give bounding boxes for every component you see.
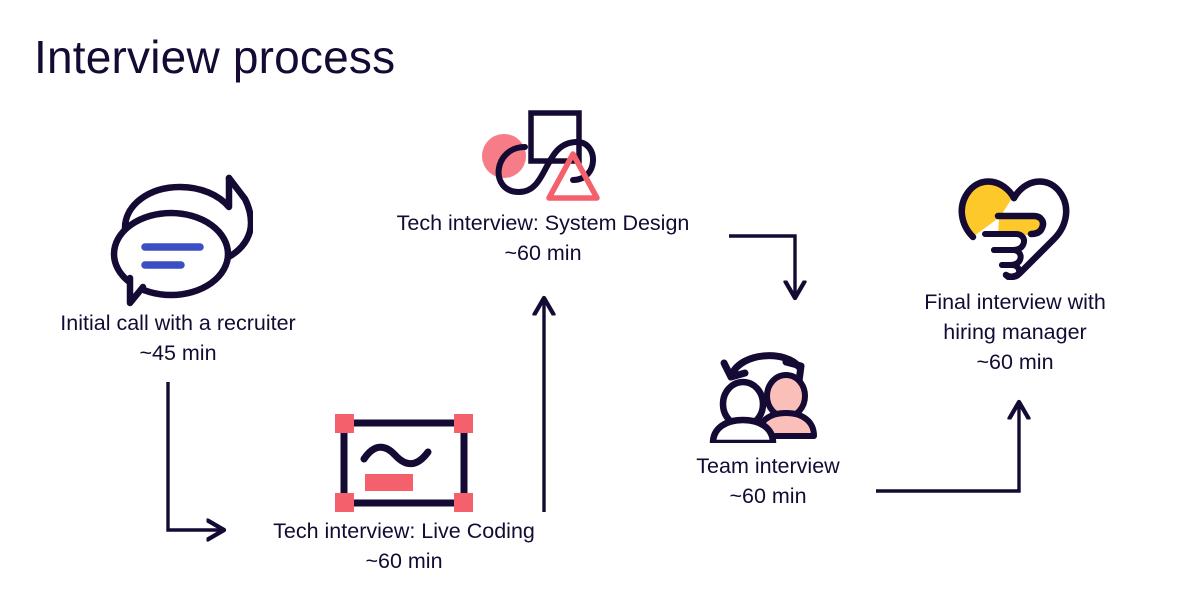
step-title: Team interview — [696, 454, 839, 478]
step-label-team-interview: Team interview ~60 min — [558, 451, 978, 511]
page-title: Interview process — [34, 30, 395, 84]
interview-process-diagram: Interview process — [0, 0, 1200, 600]
step-title-line1: Final interview with — [924, 290, 1106, 314]
step-title: Tech interview: Live Coding — [273, 519, 535, 543]
step-title: Tech interview: System Design — [397, 211, 690, 235]
step-title-line2: hiring manager — [805, 317, 1200, 347]
step-duration: ~60 min — [333, 238, 753, 268]
code-frame-icon — [329, 408, 479, 523]
step-label-initial-call: Initial call with a recruiter ~45 min — [0, 308, 388, 368]
step-duration: ~60 min — [194, 546, 614, 576]
step-label-final-interview: Final interview with hiring manager ~60 … — [805, 287, 1200, 377]
step-duration: ~60 min — [805, 347, 1200, 377]
step-duration: ~45 min — [0, 338, 388, 368]
speech-bubbles-icon — [103, 168, 253, 313]
step-title: Initial call with a recruiter — [60, 311, 295, 335]
step-duration: ~60 min — [558, 481, 978, 511]
connector-initial-to-live-coding — [168, 382, 222, 530]
step-label-live-coding: Tech interview: Live Coding ~60 min — [194, 516, 614, 576]
heart-handshake-icon — [950, 165, 1080, 285]
shapes-loop-icon — [473, 104, 613, 209]
step-label-system-design: Tech interview: System Design ~60 min — [333, 208, 753, 268]
